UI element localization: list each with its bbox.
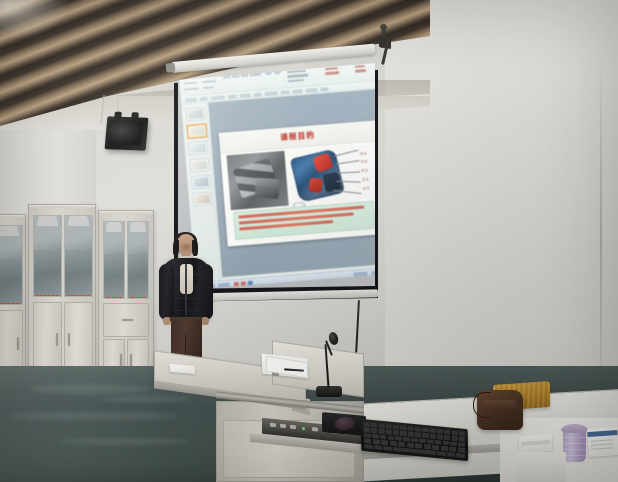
cabinet-binders (129, 254, 147, 298)
cup-body (563, 430, 586, 462)
cabinet-middle-drawer[interactable] (103, 303, 149, 337)
speaker-mount-right (131, 112, 139, 119)
cad-callout-label: 标注 (362, 177, 369, 182)
cabinet-glass-door[interactable] (127, 221, 149, 299)
slide-thumbnail[interactable] (191, 175, 211, 189)
ribbon-icon[interactable] (241, 69, 249, 77)
slide-thumbnail[interactable] (186, 107, 206, 121)
cabinet-binders (0, 259, 21, 304)
classroom-photo: 课程目的 (0, 0, 618, 482)
cabinet-binders (66, 250, 91, 296)
cad-callout-label: 标注 (363, 186, 370, 191)
ceiling-light-glare (0, 0, 70, 40)
wall-right-section (385, 0, 618, 420)
engine-photo-image (226, 150, 288, 209)
cabinet-glass-door[interactable] (64, 215, 93, 297)
microphone-capsule (328, 331, 340, 346)
document-stack[interactable] (587, 427, 618, 457)
cad-callout-label: 标注 (360, 151, 367, 156)
cabinet-glass-door[interactable] (0, 225, 23, 305)
ribbon-icon[interactable] (223, 71, 231, 79)
document-blue-band (587, 430, 617, 437)
cabinet-glass-door[interactable] (33, 215, 62, 297)
ribbon-icon-circle[interactable] (255, 68, 263, 76)
speaker-mount-left (114, 112, 122, 119)
presenter-arm-right (198, 264, 213, 320)
tissue-pack[interactable] (519, 434, 552, 453)
slide-editing-stage[interactable]: 课程目的 (208, 89, 378, 277)
slide-thumbnail[interactable] (190, 158, 210, 172)
engine-cad-diagram-image: 标注 标注 标注 标注 标注 (288, 144, 371, 205)
presenter-arm-left (159, 264, 174, 320)
cabinet-binders (105, 254, 123, 298)
ribbon-icon-circle[interactable] (274, 67, 282, 75)
filing-cabinets (0, 196, 162, 382)
cabinet-glass-door[interactable] (103, 221, 125, 299)
ribbon-icon[interactable] (232, 70, 240, 78)
current-slide[interactable]: 课程目的 (219, 120, 378, 246)
slide-thumbnail[interactable] (188, 141, 208, 155)
roller-end-cap (166, 63, 176, 73)
ribbon-icon-circle[interactable] (264, 68, 272, 76)
speaker-grille (108, 120, 143, 145)
wall-speaker (105, 116, 149, 150)
slide-thumbnail-selected[interactable] (187, 124, 207, 138)
cabinet-binders (35, 250, 60, 296)
projector-wall-bracket (375, 27, 401, 67)
cup-lid[interactable] (561, 424, 588, 433)
white-box (516, 452, 566, 482)
cad-callout-label: 标注 (361, 168, 368, 173)
slide-image-row: 标注 标注 标注 标注 标注 (226, 143, 375, 209)
presenter-hand-right (201, 317, 209, 325)
leather-bag (477, 390, 523, 430)
slide-thumbnail[interactable] (192, 192, 212, 206)
gooseneck-microphone[interactable] (312, 332, 352, 398)
cad-callout-label: 标注 (361, 159, 368, 164)
